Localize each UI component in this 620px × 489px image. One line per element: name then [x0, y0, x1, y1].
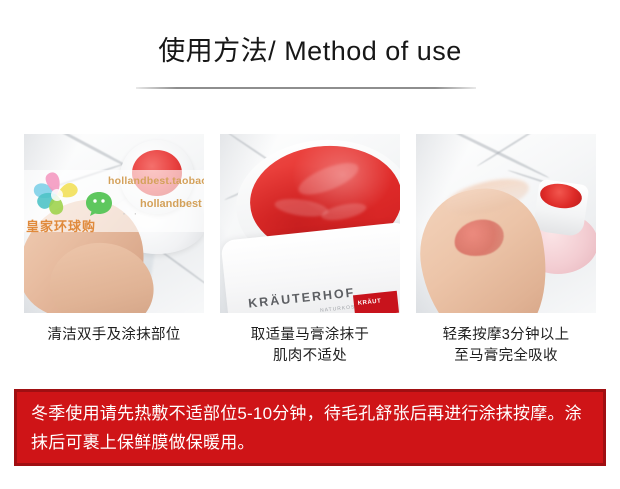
- title-divider: [136, 87, 476, 89]
- product-badge: KRÄUT: [353, 291, 399, 313]
- product-badge-label: KRÄUT: [358, 298, 382, 306]
- step-2-caption-line-1: 取适量马膏涂抹于: [220, 325, 400, 346]
- step-1: · · hollandbest.taobao.com hollandbest 皇…: [24, 134, 204, 367]
- step-2-photo: KRÄUTERHOF NATURKOSMETIK KRÄUT: [220, 134, 400, 313]
- page-title-block: 使用方法/ Method of use: [0, 34, 620, 68]
- step-3-caption: 轻柔按摩3分钟以上 至马膏完全吸收: [416, 325, 596, 367]
- warning-banner: 冬季使用请先热敷不适部位5-10分钟，待毛孔舒张后再进行涂抹按摩。涂抹后可裹上保…: [14, 389, 606, 466]
- step-2: KRÄUTERHOF NATURKOSMETIK KRÄUT 取适量马膏涂抹于 …: [220, 134, 400, 367]
- step-1-caption-line: 清洁双手及涂抹部位: [24, 325, 204, 346]
- step-3-photo: [416, 134, 596, 313]
- warning-banner-text: 冬季使用请先热敷不适部位5-10分钟，待毛孔舒张后再进行涂抹按摩。涂抹后可裹上保…: [17, 399, 603, 457]
- gel-swirl: [295, 157, 363, 201]
- step-2-caption-line-2: 肌肉不适处: [220, 346, 400, 367]
- step-1-photo: · · hollandbest.taobao.com hollandbest 皇…: [24, 134, 204, 313]
- steps-row: · · hollandbest.taobao.com hollandbest 皇…: [24, 134, 596, 367]
- step-3: 轻柔按摩3分钟以上 至马膏完全吸收: [416, 134, 596, 367]
- page-title: 使用方法/ Method of use: [0, 34, 620, 68]
- step-3-caption-line-1: 轻柔按摩3分钟以上: [416, 325, 596, 346]
- step-2-caption: 取适量马膏涂抹于 肌肉不适处: [220, 325, 400, 367]
- step-3-caption-line-2: 至马膏完全吸收: [416, 346, 596, 367]
- gel-swirl: [320, 200, 368, 223]
- step-1-caption: 清洁双手及涂抹部位: [24, 325, 204, 346]
- red-gel-in-cup: [132, 150, 182, 196]
